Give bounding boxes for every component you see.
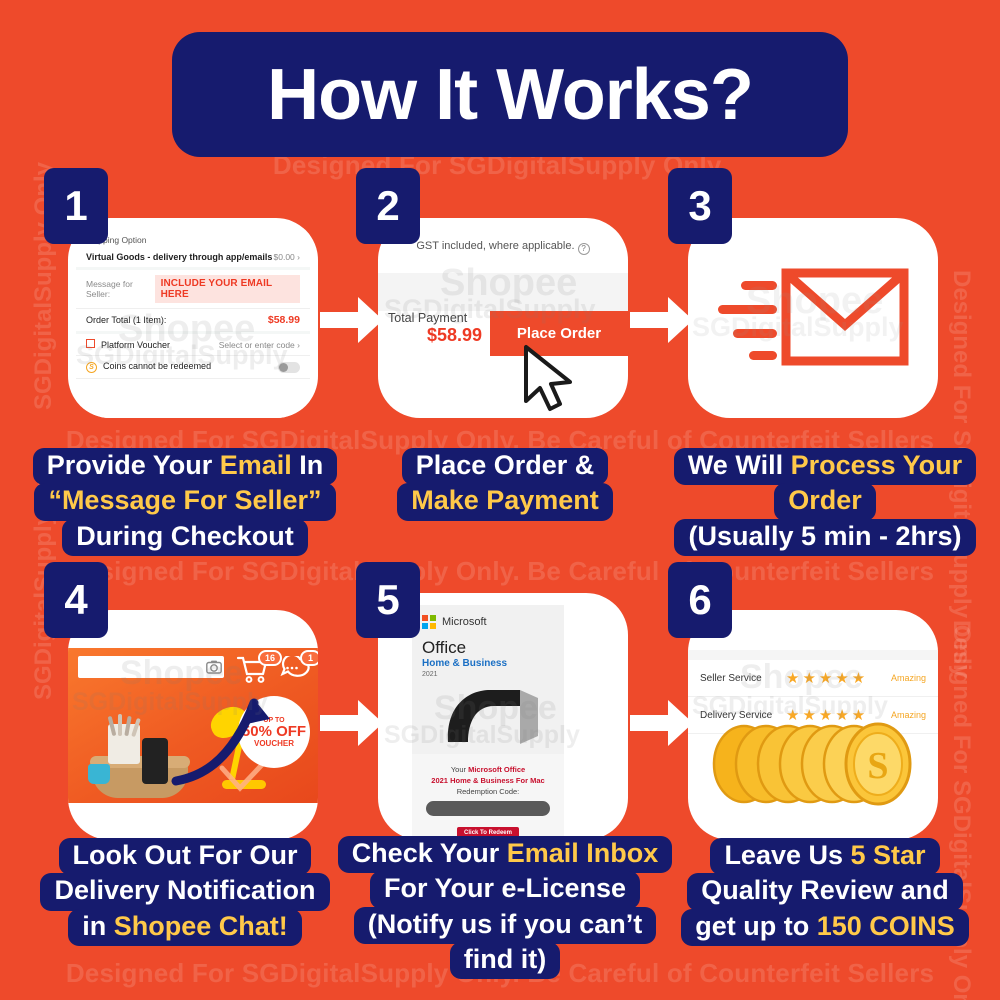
- page-title: How It Works?: [172, 32, 848, 157]
- voucher-action[interactable]: Select or enter code ›: [219, 340, 300, 350]
- caption-line: Provide Your Email In: [33, 448, 338, 485]
- office-ribbon-graphic: [428, 684, 548, 748]
- caption-highlight: Email: [220, 450, 292, 480]
- shipping-method-row[interactable]: Virtual Goods - delivery through app/ema…: [76, 247, 310, 270]
- total-payment-label: Total Payment: [388, 311, 490, 325]
- step-caption-2: Place Order &Make Payment: [330, 450, 680, 521]
- redemption-code-field: [426, 801, 550, 816]
- caption-line: Order: [774, 483, 876, 520]
- message-for-seller-label: Message for Seller:: [86, 279, 155, 299]
- redeem-line-1: Your Microsoft Office: [418, 765, 558, 774]
- panel-divider: [688, 650, 938, 660]
- order-total-value: $58.99: [268, 314, 300, 326]
- coins-toggle[interactable]: [278, 362, 300, 373]
- coins-row: SCoins cannot be redeemed: [76, 356, 310, 379]
- caption-text: get up to: [695, 911, 816, 941]
- right-arrow-icon: [630, 698, 694, 748]
- caption-line: We Will Process Your: [674, 448, 976, 485]
- caption-text: Place Order &: [416, 450, 595, 480]
- microsoft-label: Microsoft: [442, 616, 487, 628]
- right-arrow-icon: [320, 295, 384, 345]
- watermark-line: Designed For SGDigitalSupply Only. Be Ca…: [0, 556, 1000, 587]
- caption-text: in: [82, 911, 114, 941]
- caption-text: Quality Review and: [701, 875, 949, 905]
- step-badge-6: 6: [668, 562, 732, 638]
- rating-text: Amazing: [891, 673, 926, 683]
- license-email-sheet: Microsoft Office Home & Business 2021 Yo…: [412, 605, 564, 836]
- caption-line: Place Order &: [402, 448, 609, 485]
- order-total-row: Order Total (1 Item): $58.99: [76, 309, 310, 334]
- page-title-text: How It Works?: [267, 59, 753, 131]
- caption-text: In: [292, 450, 324, 480]
- step-badge-5: 5: [356, 562, 420, 638]
- right-arrow-icon: [320, 698, 384, 748]
- payment-row: Total Payment $58.99 Place Order: [378, 311, 628, 356]
- shipping-method-label: Virtual Goods - delivery through app/ema…: [86, 252, 272, 262]
- chat-badge: 1: [300, 650, 318, 666]
- office-edition: Home & Business: [422, 658, 554, 669]
- total-payment-amount: $58.99: [388, 325, 490, 346]
- caption-highlight: “Message For Seller”: [48, 485, 321, 515]
- step-badge-2: 2: [356, 168, 420, 244]
- shopee-coin-icon: S: [86, 362, 97, 373]
- step-badge-1: 1: [44, 168, 108, 244]
- mouse-cursor-icon: [520, 343, 580, 415]
- star-rating[interactable]: ★★★★★: [786, 669, 891, 687]
- caption-text: find it): [464, 944, 546, 974]
- right-arrow-icon: [630, 295, 694, 345]
- caption-line: During Checkout: [62, 519, 308, 556]
- caption-text: Look Out For Our: [73, 840, 298, 870]
- caption-line: Check Your Email Inbox: [338, 836, 673, 873]
- caption-text: During Checkout: [76, 521, 294, 551]
- caption-line: in Shopee Chat!: [68, 909, 302, 946]
- rating-label: Delivery Service: [700, 710, 786, 721]
- caption-text: Delivery Notification: [54, 875, 315, 905]
- step-card-4: 16 1 UP TO 50% OFF VO: [68, 610, 318, 840]
- caption-text: We Will: [688, 450, 791, 480]
- caption-text: (Usually 5 min - 2hrs): [688, 521, 961, 551]
- step-caption-1: Provide Your Email In“Message For Seller…: [0, 450, 370, 556]
- camera-icon[interactable]: [206, 660, 222, 674]
- shipping-price: $0.00 ›: [274, 252, 301, 262]
- caption-highlight: Shopee Chat!: [114, 911, 288, 941]
- caption-line: Quality Review and: [687, 873, 963, 910]
- caption-line: (Notify us if you can’t: [354, 907, 657, 944]
- caption-highlight: 150 COINS: [817, 911, 955, 941]
- platform-voucher-label: Platform Voucher: [86, 339, 170, 350]
- step-caption-6: Leave Us 5 StarQuality Review andget up …: [650, 840, 1000, 946]
- step-caption-3: We Will Process YourOrder(Usually 5 min …: [650, 450, 1000, 556]
- caption-highlight: Email Inbox: [507, 838, 659, 868]
- coins-label: SCoins cannot be redeemed: [86, 361, 211, 373]
- divider-strip: [378, 273, 628, 311]
- caption-text: Provide Your: [47, 450, 220, 480]
- caption-highlight: Make Payment: [411, 485, 599, 515]
- rating-label: Seller Service: [700, 673, 786, 684]
- curved-arrow-icon: [168, 673, 288, 793]
- step-badge-3: 3: [668, 168, 732, 244]
- step-card-1: Shipping Option Virtual Goods - delivery…: [68, 218, 318, 418]
- flying-mail-icon: [716, 263, 916, 373]
- caption-line: Delivery Notification: [40, 873, 329, 910]
- step-card-6: Seller Service ★★★★★ Amazing Delivery Se…: [688, 610, 938, 840]
- rating-text: Amazing: [891, 710, 926, 720]
- redeem-line-3: Redemption Code:: [418, 787, 558, 796]
- caption-highlight: 5 Star: [851, 840, 926, 870]
- svg-text:S: S: [867, 745, 888, 787]
- coin-stack: S: [706, 722, 920, 806]
- caption-line: Leave Us 5 Star: [710, 838, 939, 875]
- caption-text: Check Your: [352, 838, 507, 868]
- caption-highlight: Process Your: [791, 450, 963, 480]
- redemption-block: Your Microsoft Office 2021 Home & Busine…: [412, 754, 564, 840]
- caption-line: For Your e-License: [370, 871, 640, 908]
- include-email-highlight: INCLUDE YOUR EMAIL HERE: [155, 275, 300, 303]
- microsoft-logo-row: Microsoft: [422, 615, 554, 629]
- voucher-checkbox-icon[interactable]: [86, 339, 95, 348]
- caption-line: get up to 150 COINS: [681, 909, 969, 946]
- help-icon[interactable]: ?: [578, 243, 590, 255]
- caption-text: For Your e-License: [384, 873, 626, 903]
- step-card-2: GST included, where applicable. ? Total …: [378, 218, 628, 418]
- shipping-option-label: Shipping Option: [76, 228, 310, 247]
- caption-highlight: Order: [788, 485, 862, 515]
- caption-line: find it): [450, 942, 560, 979]
- step-caption-5: Check Your Email InboxFor Your e-License…: [330, 838, 680, 979]
- office-year: 2021: [422, 671, 554, 678]
- rating-row: Seller Service ★★★★★ Amazing: [688, 660, 938, 697]
- total-payment-block: Total Payment $58.99: [378, 311, 490, 356]
- caption-line: (Usually 5 min - 2hrs): [674, 519, 975, 556]
- microsoft-logo-icon: [422, 615, 436, 629]
- redeem-line-2: 2021 Home & Business For Mac: [418, 776, 558, 785]
- office-product-box: Microsoft Office Home & Business 2021: [412, 605, 564, 754]
- platform-voucher-row[interactable]: Platform Voucher Select or enter code ›: [76, 334, 310, 356]
- office-label: Office: [422, 638, 554, 658]
- shopee-app-banner: 16 1 UP TO 50% OFF VO: [68, 648, 318, 803]
- message-for-seller-row[interactable]: Message for Seller: INCLUDE YOUR EMAIL H…: [76, 270, 310, 309]
- caption-text: (Notify us if you can’t: [368, 909, 643, 939]
- caption-line: Look Out For Our: [59, 838, 312, 875]
- caption-line: “Message For Seller”: [34, 483, 335, 520]
- step-card-3: Shopee SGDigitalSupply: [688, 218, 938, 418]
- caption-line: Make Payment: [397, 483, 613, 520]
- step-caption-4: Look Out For OurDelivery Notificationin …: [0, 840, 370, 946]
- order-total-label: Order Total (1 Item):: [86, 315, 166, 325]
- step-badge-4: 4: [44, 562, 108, 638]
- caption-text: Leave Us: [724, 840, 850, 870]
